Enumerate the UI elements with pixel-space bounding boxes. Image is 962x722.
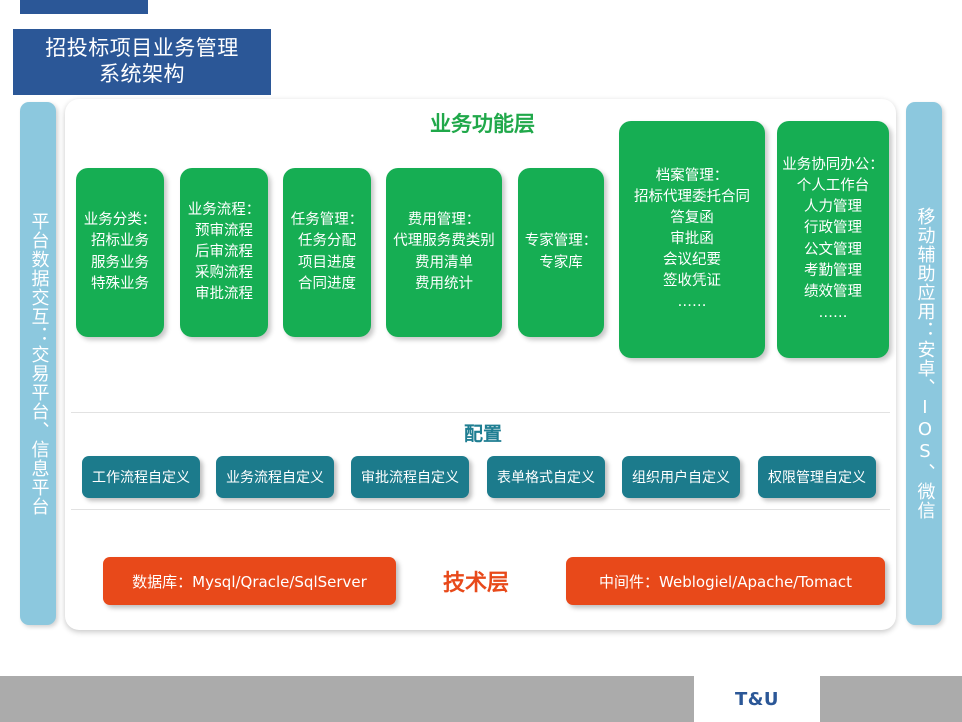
config-chip-workflow-custom[interactable]: 工作流程自定义 <box>82 456 200 498</box>
panel-divider-config-tech <box>71 509 890 510</box>
config-chip-approval-process-custom[interactable]: 审批流程自定义 <box>351 456 469 498</box>
business-box-archive-management[interactable]: 档案管理： 招标代理委托合同 答复函 审批函 会议纪要 签收凭证 …… <box>619 121 765 358</box>
footer-logo: T&U <box>694 676 820 722</box>
panel-divider-business-config <box>71 412 890 413</box>
business-box-service-classification[interactable]: 业务分类： 招标业务 服务业务 特殊业务 <box>76 168 164 337</box>
config-chip-org-user-custom[interactable]: 组织用户自定义 <box>622 456 740 498</box>
section-title-config-layer: 配置 <box>464 419 502 446</box>
section-title-tech-layer: 技术层 <box>443 565 509 597</box>
config-chip-permission-custom[interactable]: 权限管理自定义 <box>758 456 876 498</box>
config-chip-business-process-custom[interactable]: 业务流程自定义 <box>216 456 334 498</box>
slide-canvas: 招投标项目业务管理 系统架构 平台数据交互：交易平台、信息平台 移动辅助应用：安… <box>0 0 962 722</box>
right-rail-label: 移动辅助应用：安卓、IOS、微信 <box>915 207 934 520</box>
business-box-service-process[interactable]: 业务流程： 预审流程 后审流程 采购流程 审批流程 <box>180 168 268 337</box>
business-box-task-management[interactable]: 任务管理： 任务分配 项目进度 合同进度 <box>283 168 371 337</box>
page-title-line-2: 系统架构 <box>45 62 239 88</box>
section-title-business-layer: 业务功能层 <box>430 108 535 138</box>
config-chip-form-format-custom[interactable]: 表单格式自定义 <box>487 456 605 498</box>
business-box-expert-management[interactable]: 专家管理： 专家库 <box>518 168 604 337</box>
tech-box-database[interactable]: 数据库：Mysql/Qracle/SqlServer <box>103 557 396 605</box>
business-box-fee-management[interactable]: 费用管理： 代理服务费类别 费用清单 费用统计 <box>386 168 502 337</box>
tech-box-middleware[interactable]: 中间件：Weblogiel/Apache/Tomact <box>566 557 885 605</box>
footer-bar-left <box>0 676 694 722</box>
page-title-line-1: 招投标项目业务管理 <box>45 36 239 62</box>
footer-bar-right <box>820 676 962 722</box>
right-rail-mobile-apps: 移动辅助应用：安卓、IOS、微信 <box>906 102 942 625</box>
left-rail-platform-data-exchange: 平台数据交互：交易平台、信息平台 <box>20 102 56 625</box>
left-rail-label: 平台数据交互：交易平台、信息平台 <box>29 212 48 516</box>
page-title: 招投标项目业务管理 系统架构 <box>13 29 271 95</box>
business-box-collaborative-office[interactable]: 业务协同办公： 个人工作台 人力管理 行政管理 公文管理 考勤管理 绩效管理 …… <box>777 121 889 358</box>
top-accent-bar <box>20 0 148 14</box>
